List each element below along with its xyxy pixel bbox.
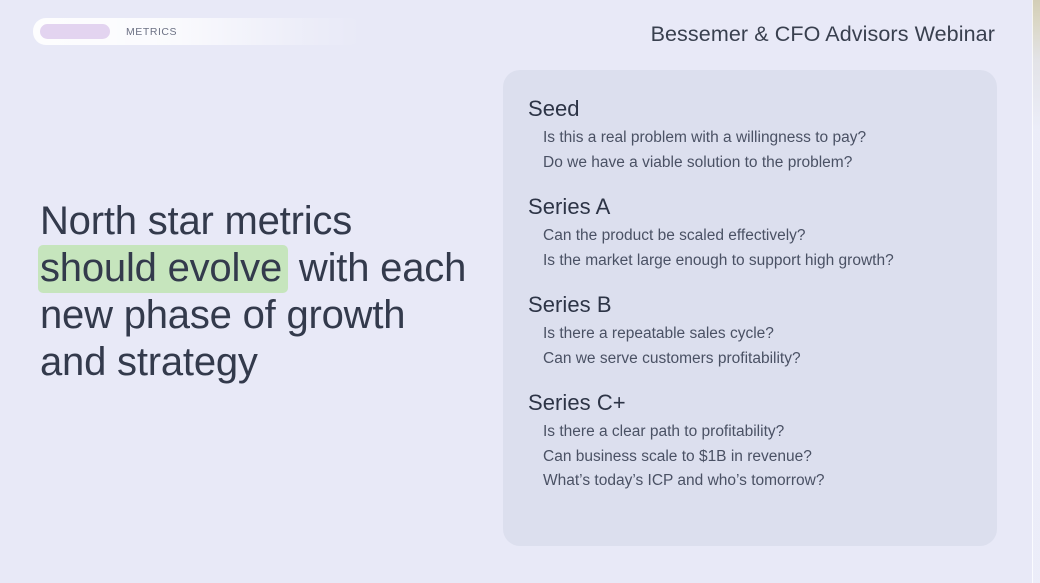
stage-point: Is there a repeatable sales cycle? [543, 322, 973, 347]
metrics-pill-icon [40, 24, 110, 39]
stage-series-c-plus: Series C+ Is there a clear path to profi… [528, 388, 973, 494]
stage-points: Is there a clear path to profitability? … [528, 420, 973, 494]
stage-point: Is the market large enough to support hi… [543, 249, 973, 274]
headline-line-2-tail: with each [288, 246, 466, 290]
stage-seed: Seed Is this a real problem with a willi… [528, 94, 973, 175]
stage-point: Can business scale to $1B in revenue? [543, 445, 973, 470]
headline-highlight: should evolve [38, 245, 288, 293]
headline-line-1: North star metrics [40, 199, 352, 243]
stage-point: What’s today’s ICP and who’s tomorrow? [543, 469, 973, 494]
stages-card: Seed Is this a real problem with a willi… [503, 70, 997, 546]
slide-edge-divider [1032, 0, 1033, 583]
page-title: Bessemer & CFO Advisors Webinar [651, 22, 995, 47]
metrics-badge-label: METRICS [126, 26, 177, 38]
stage-points: Can the product be scaled effectively? I… [528, 224, 973, 273]
stage-point: Can we serve customers profitability? [543, 347, 973, 372]
stage-title: Series C+ [528, 388, 973, 418]
stage-title: Seed [528, 94, 973, 124]
stage-title: Series B [528, 290, 973, 320]
stage-series-a: Series A Can the product be scaled effec… [528, 192, 973, 273]
stage-point: Can the product be scaled effectively? [543, 224, 973, 249]
adjacent-slide-edge [1032, 0, 1040, 583]
stage-point: Is this a real problem with a willingnes… [543, 126, 973, 151]
stage-title: Series A [528, 192, 973, 222]
headline: North star metrics should evolve with ea… [40, 198, 500, 386]
slide-canvas: METRICS Bessemer & CFO Advisors Webinar … [0, 0, 1040, 583]
stage-points: Is this a real problem with a willingnes… [528, 126, 973, 175]
stage-series-b: Series B Is there a repeatable sales cyc… [528, 290, 973, 371]
stage-points: Is there a repeatable sales cycle? Can w… [528, 322, 973, 371]
metrics-badge-bar: METRICS [33, 18, 363, 45]
headline-line-4: and strategy [40, 340, 258, 384]
stage-point: Do we have a viable solution to the prob… [543, 151, 973, 176]
headline-line-3: new phase of growth [40, 293, 405, 337]
stage-point: Is there a clear path to profitability? [543, 420, 973, 445]
